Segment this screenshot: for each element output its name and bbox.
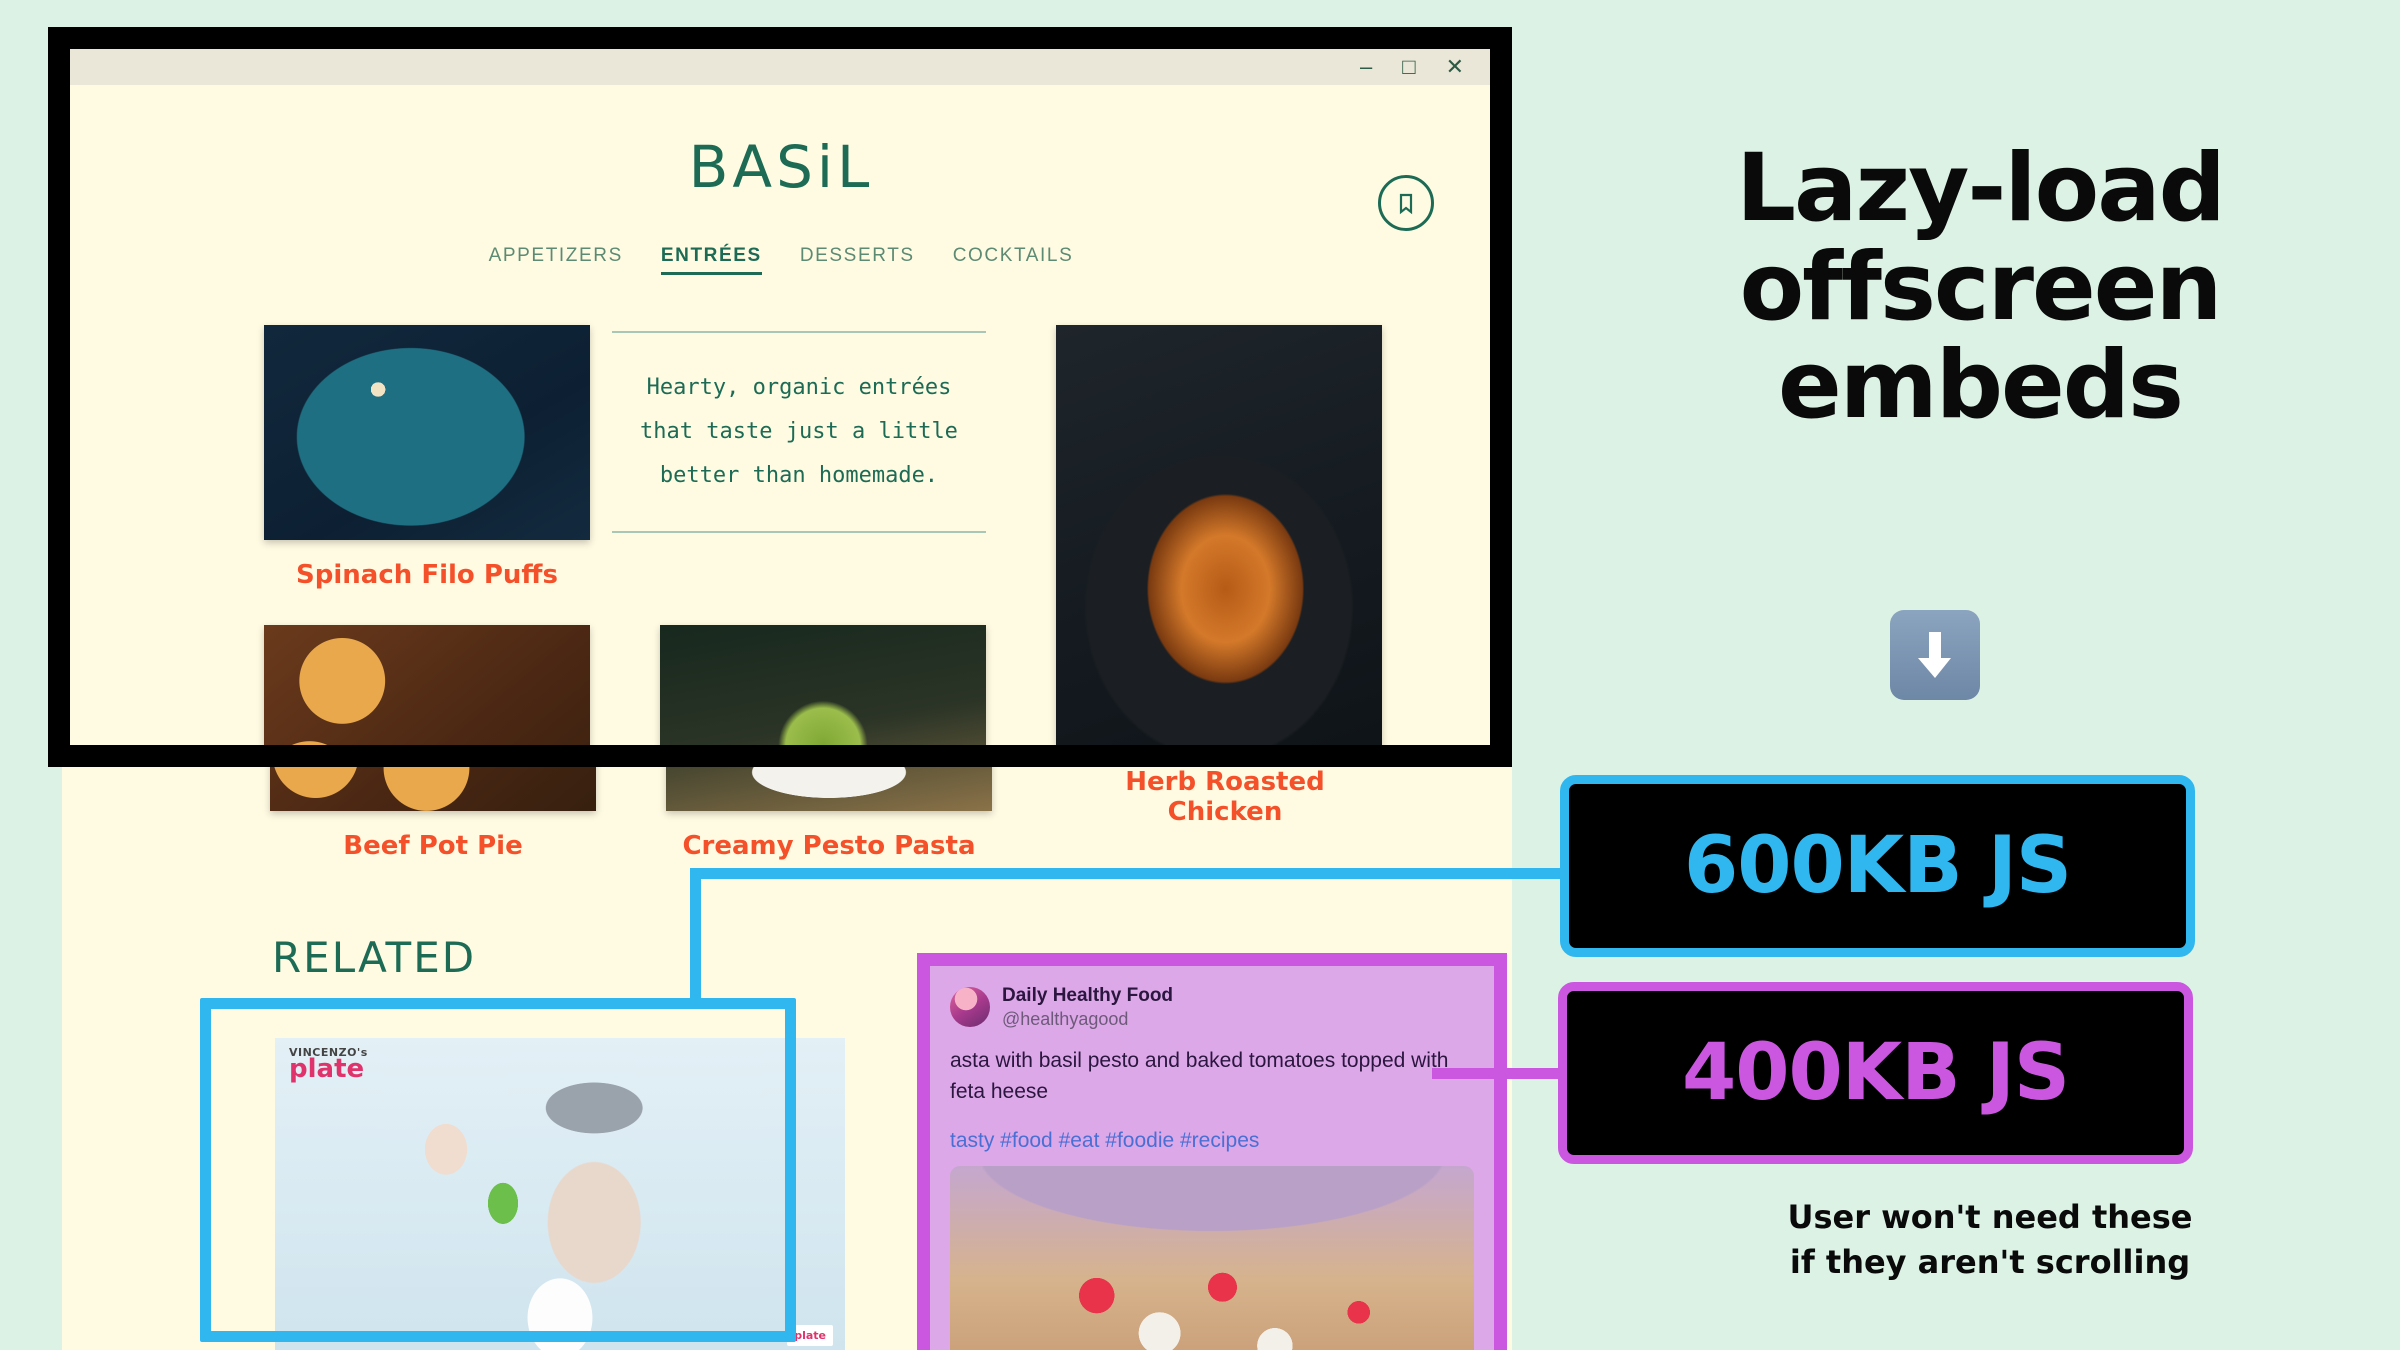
slide-root: BASiL APPETIZERS ENTRÉES DESSERTS COCKTA… — [0, 0, 2400, 1350]
tweet-body: asta with basil pesto and baked tomatoes… — [950, 1046, 1474, 1107]
viewport-nav-item-appetizers[interactable]: APPETIZERS — [489, 245, 623, 275]
browser-window: – □ ✕ BASiL APPETIZERS ENTRÉES DESSERTS — [48, 27, 1512, 767]
arrow-down-icon — [1890, 610, 1980, 700]
viewport-pitch-block: Hearty, organic entrées that taste just … — [612, 331, 986, 533]
tweet-embed[interactable]: Daily Healthy Food @healthyagood asta wi… — [917, 953, 1507, 1350]
tweet-display-name: Daily Healthy Food — [1002, 984, 1173, 1008]
viewport-dish-card-pesto[interactable]: Creamy Pesto Pasta — [660, 625, 986, 745]
tweet-header: Daily Healthy Food @healthyagood — [950, 984, 1474, 1030]
tweet-photo — [950, 1166, 1474, 1350]
viewport-site-nav: APPETIZERS ENTRÉES DESSERTS COCKTAILS — [70, 245, 1490, 275]
footnote-line-1: User won't need these — [1660, 1195, 2320, 1240]
viewport-nav-item-desserts[interactable]: DESSERTS — [800, 245, 915, 275]
maximize-icon[interactable]: □ — [1402, 56, 1415, 78]
related-heading: RELATED — [272, 933, 476, 982]
viewport-dish-image-spinach — [264, 325, 590, 540]
viewport-dish-card-chicken[interactable]: Herb Roasted Chicken — [1056, 325, 1382, 745]
badge-400kb-js: 400KB JS — [1558, 982, 2193, 1164]
viewport-dish-image-potpie — [264, 625, 590, 745]
connector-line-pink-horizontal — [1432, 1068, 1572, 1079]
window-titlebar: – □ ✕ — [70, 49, 1490, 85]
connector-line-blue-vertical — [690, 868, 701, 1003]
avatar — [950, 987, 990, 1027]
window-viewport-content: BASiL APPETIZERS ENTRÉES DESSERTS COCKTA… — [70, 85, 1490, 745]
callout-title: Lazy-load offscreen embeds — [1600, 140, 2360, 436]
viewport-dish-card-potpie[interactable]: Beef Pot Pie — [264, 625, 590, 745]
viewport-pitch-line-2: that taste just a little — [640, 419, 958, 444]
dish-label-herb-roasted-chicken: Herb Roasted Chicken — [1062, 768, 1388, 828]
viewport-dish-label-spinach: Spinach Filo Puffs — [264, 560, 590, 590]
tweet-card: Daily Healthy Food @healthyagood asta wi… — [930, 966, 1494, 1350]
dish-label-beef-pot-pie: Beef Pot Pie — [270, 831, 596, 861]
viewport-bookmark-icon[interactable] — [1378, 175, 1434, 231]
tweet-hashtags[interactable]: tasty #food #eat #foodie #recipes — [950, 1129, 1474, 1153]
viewport-pitch-line-1: Hearty, organic entrées — [647, 375, 952, 400]
viewport-site-logo: BASiL — [70, 133, 1490, 201]
dish-label-creamy-pesto-pasta: Creamy Pesto Pasta — [666, 831, 992, 861]
badge-600kb-js: 600KB JS — [1560, 775, 2195, 957]
minimize-icon[interactable]: – — [1360, 56, 1372, 78]
viewport-nav-item-cocktails[interactable]: COCKTAILS — [953, 245, 1074, 275]
footnote-line-2: if they aren't scrolling — [1660, 1240, 2320, 1285]
viewport-dish-image-pesto — [660, 625, 986, 745]
viewport-dish-card-spinach[interactable]: Spinach Filo Puffs — [264, 325, 590, 540]
callout-footnote: User won't need these if they aren't scr… — [1660, 1195, 2320, 1285]
tweet-handle: @healthyagood — [1002, 1008, 1173, 1031]
viewport-nav-item-entrees[interactable]: ENTRÉES — [661, 245, 762, 275]
window-viewport: BASiL APPETIZERS ENTRÉES DESSERTS COCKTA… — [70, 85, 1490, 745]
viewport-site-copy: BASiL APPETIZERS ENTRÉES DESSERTS COCKTA… — [70, 85, 1490, 745]
viewport-pitch-text: Hearty, organic entrées that taste just … — [640, 366, 958, 498]
viewport-dish-image-chicken — [1056, 325, 1382, 745]
highlight-outline-video — [200, 998, 796, 1342]
connector-line-blue-horizontal — [690, 868, 1570, 879]
close-icon[interactable]: ✕ — [1446, 56, 1464, 78]
viewport-pitch-line-3: better than homemade. — [660, 463, 938, 488]
